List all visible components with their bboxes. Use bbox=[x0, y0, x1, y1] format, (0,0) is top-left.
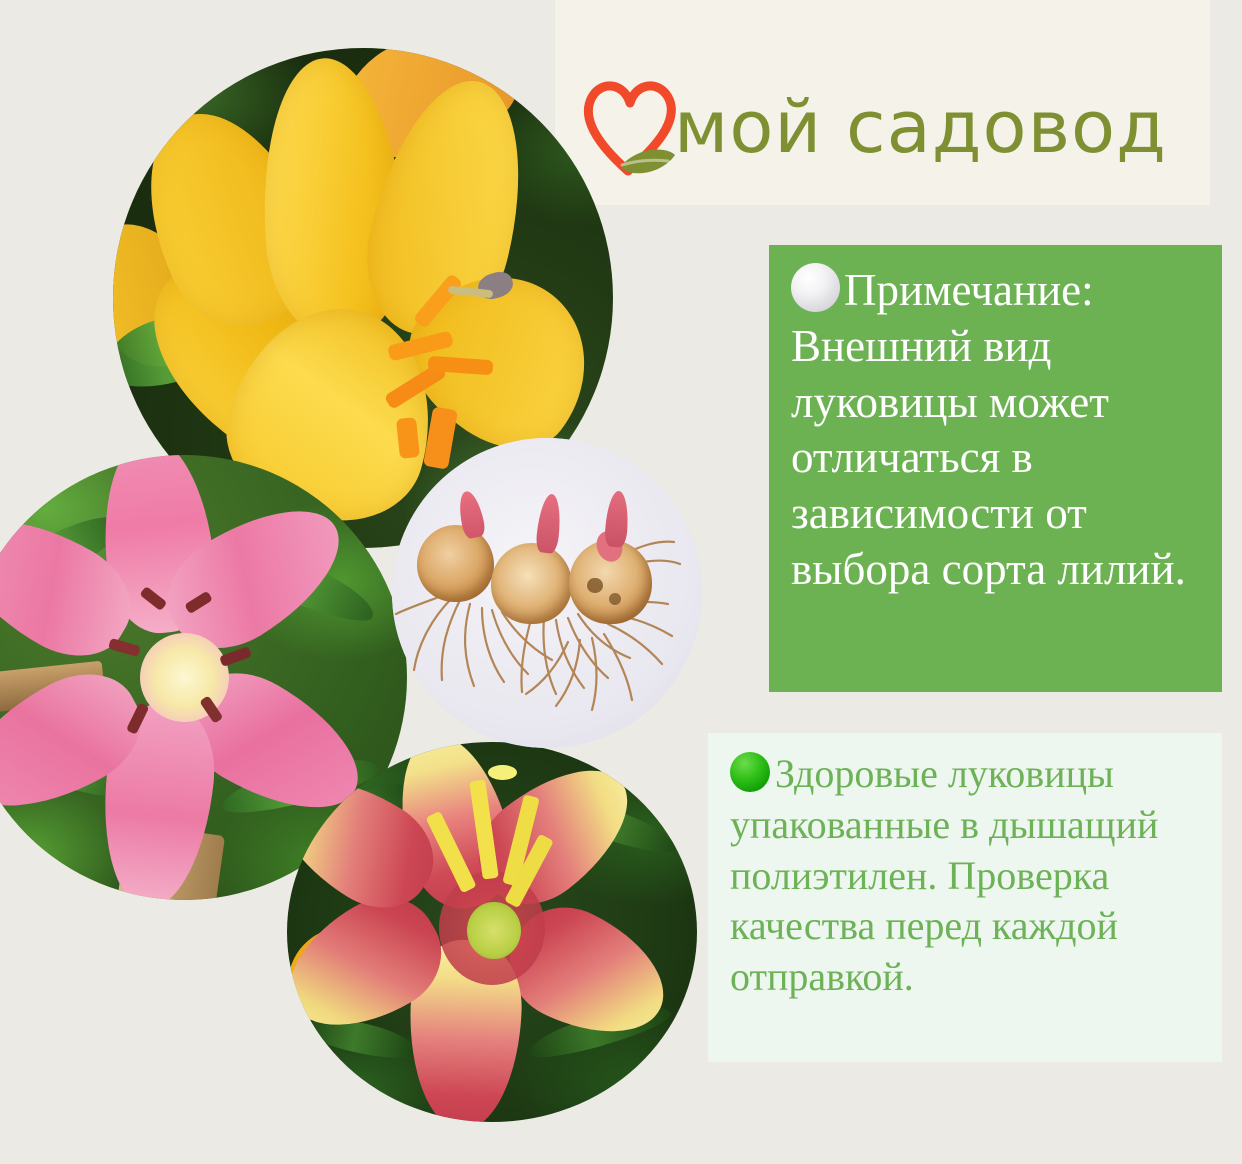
photo-lily-bulbs bbox=[392, 438, 702, 748]
note-quality-text: Здоровые луковицы упакованные в дышащий … bbox=[730, 751, 1158, 999]
silver-circle-bullet-icon bbox=[791, 263, 840, 312]
brand-logo[interactable]: мой садовод bbox=[578, 52, 1218, 202]
brand-name: мой садовод bbox=[674, 91, 1167, 163]
promo-canvas: мой садовод bbox=[0, 0, 1242, 1164]
note-variation: Примечание: Внешний вид луковицы может о… bbox=[769, 245, 1222, 692]
green-circle-bullet-icon bbox=[730, 752, 770, 792]
note-variation-text: Примечание: Внешний вид луковицы может о… bbox=[791, 265, 1186, 594]
photo-red-yellow-lily bbox=[287, 742, 697, 1122]
note-quality: Здоровые луковицы упакованные в дышащий … bbox=[708, 733, 1222, 1062]
